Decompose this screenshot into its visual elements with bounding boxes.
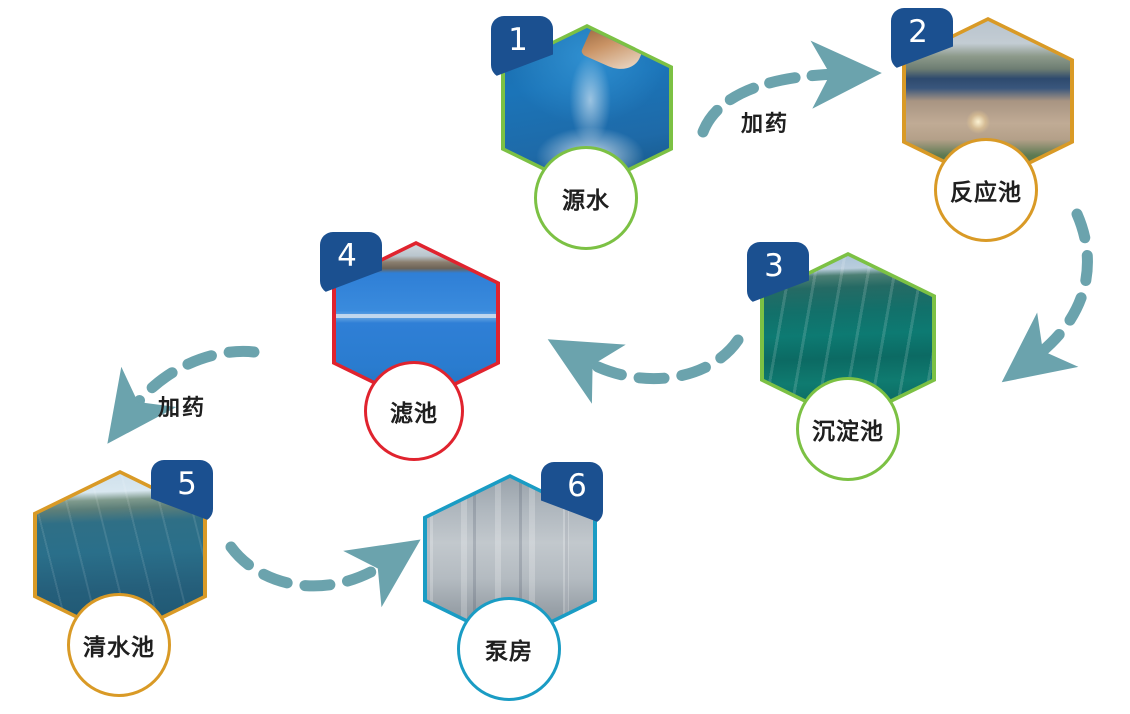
- process-flow-diagram: 加药 加药 1 源水 2 反应池: [0, 0, 1130, 714]
- step-caption-sedimentation-basin[interactable]: 沉淀池: [796, 377, 900, 481]
- step-node-source-water[interactable]: 1 源水: [501, 24, 673, 192]
- step-number-5: 5: [177, 469, 197, 500]
- step-node-filter-basin[interactable]: 4 滤池: [332, 241, 500, 405]
- step-badge-3: 3: [747, 242, 809, 304]
- arrow-label-dosing-2: 加药: [158, 390, 206, 422]
- step-node-pump-house[interactable]: 6 泵房: [423, 474, 597, 644]
- step-node-clear-water-basin[interactable]: 5 清水池: [33, 470, 207, 640]
- step-badge-4: 4: [320, 232, 382, 294]
- step-caption-source-water[interactable]: 源水: [534, 146, 638, 250]
- step-number-4: 4: [337, 241, 357, 272]
- step-badge-1: 1: [491, 16, 553, 78]
- step-label-4: 滤池: [390, 394, 438, 428]
- step-badge-2: 2: [891, 8, 953, 70]
- step-node-sedimentation-basin[interactable]: 3 沉淀池: [760, 252, 936, 424]
- step-label-1: 源水: [562, 181, 610, 215]
- step-label-6: 泵房: [485, 632, 533, 666]
- step-node-reaction-basin[interactable]: 2 反应池: [902, 17, 1074, 185]
- step-badge-6: 6: [541, 462, 603, 524]
- step-number-1: 1: [508, 25, 528, 56]
- step-number-3: 3: [764, 251, 784, 282]
- step-label-5: 清水池: [83, 628, 155, 662]
- step-caption-clear-water-basin[interactable]: 清水池: [67, 593, 171, 697]
- step-number-6: 6: [567, 471, 587, 502]
- step-number-2: 2: [908, 17, 928, 48]
- arrow-clearwater-to-pump: [231, 547, 386, 586]
- arrow-label-dosing-1: 加药: [741, 106, 789, 138]
- arrow-reaction-to-sedimentation: [1035, 214, 1087, 357]
- arrow-sedimentation-to-filter: [584, 340, 738, 379]
- step-label-3: 沉淀池: [812, 412, 884, 446]
- step-caption-filter-basin[interactable]: 滤池: [364, 361, 464, 461]
- step-caption-pump-house[interactable]: 泵房: [457, 597, 561, 701]
- step-label-2: 反应池: [950, 173, 1022, 207]
- step-badge-5: 5: [151, 460, 213, 522]
- step-caption-reaction-basin[interactable]: 反应池: [934, 138, 1038, 242]
